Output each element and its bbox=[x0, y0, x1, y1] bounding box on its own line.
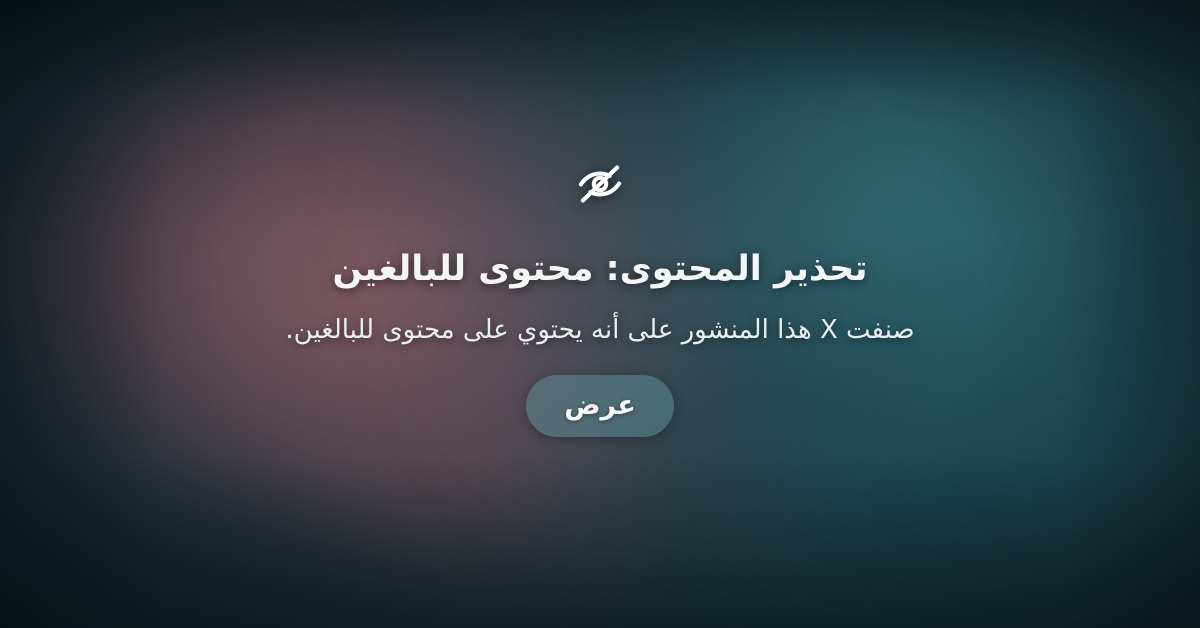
content-warning-screen: تحذير المحتوى: محتوى للبالغين صنفت X هذا… bbox=[0, 0, 1200, 628]
eye-off-icon bbox=[574, 158, 626, 210]
page-title: تحذير المحتوى: محتوى للبالغين bbox=[333, 248, 868, 292]
view-button[interactable]: عرض bbox=[526, 375, 674, 437]
warning-description: صنفت X هذا المنشور على أنه يحتوي على محت… bbox=[285, 312, 914, 349]
content-warning-panel: تحذير المحتوى: محتوى للبالغين صنفت X هذا… bbox=[0, 0, 1200, 628]
